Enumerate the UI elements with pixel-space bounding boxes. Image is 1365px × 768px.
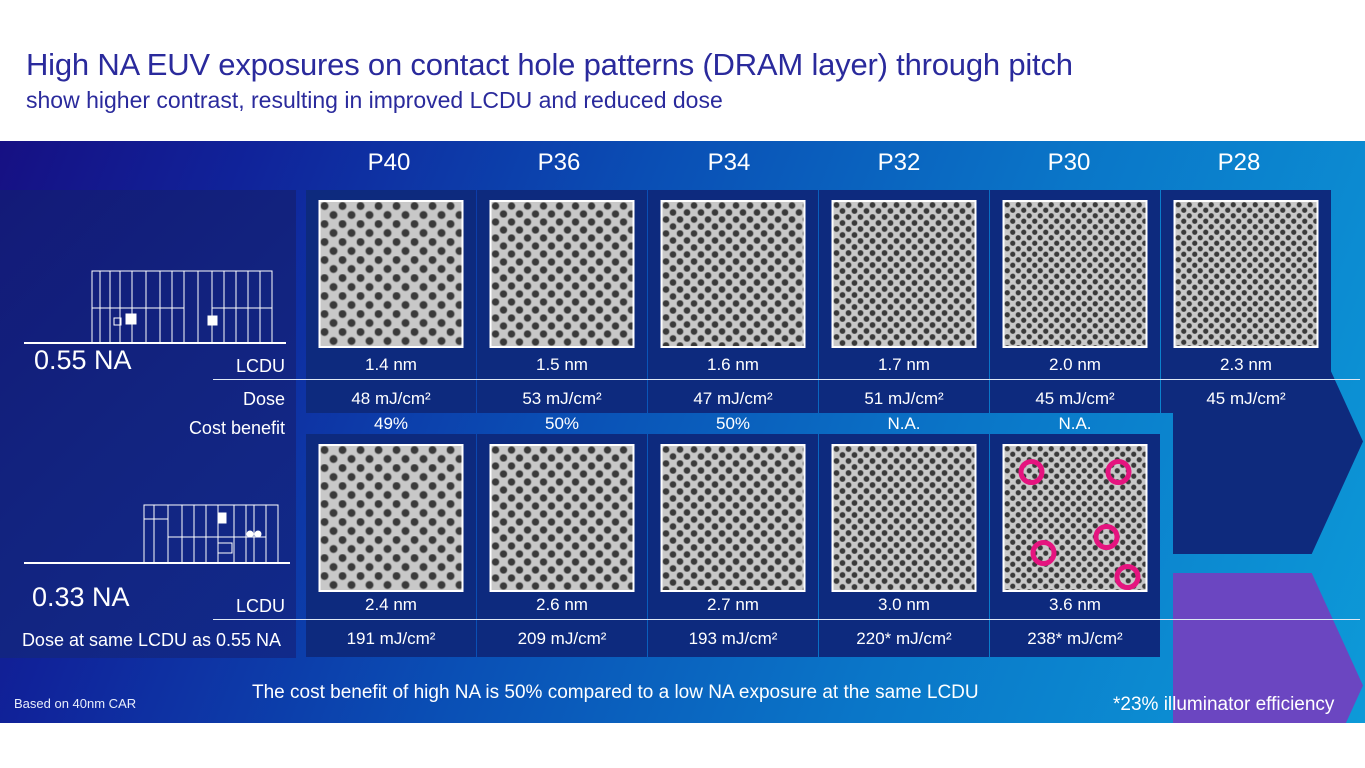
value-lcdu-high-na-p36: 1.5 nm (477, 355, 647, 375)
value-dose-low-na-p36: 209 mJ/cm² (477, 629, 647, 649)
value-dose-low-na-p40: 191 mJ/cm² (306, 629, 476, 649)
sem-image-top-p32 (832, 200, 977, 348)
value-lcdu-high-na-p30: 2.0 nm (990, 355, 1160, 375)
divider-low-na (213, 619, 1360, 620)
value-cost-benefit-p36: 50% (477, 414, 647, 434)
column-block-bottom-p30 (990, 434, 1160, 657)
value-cost-benefit-p32: N.A. (819, 414, 989, 434)
value-lcdu-low-na-p30: 3.6 nm (990, 595, 1160, 615)
value-lcdu-low-na-p36: 2.6 nm (477, 595, 647, 615)
defect-marker-icon (1106, 459, 1132, 485)
high-na-label: 0.55 NA (34, 345, 132, 376)
value-dose-low-na-p32: 220* mJ/cm² (819, 629, 989, 649)
value-cost-benefit-p40: 49% (306, 414, 476, 434)
based-on-note: Based on 40nm CAR (14, 696, 136, 711)
row-label-cost-benefit: Cost benefit (110, 418, 285, 439)
column-block-bottom-p34 (648, 434, 818, 657)
value-lcdu-low-na-p40: 2.4 nm (306, 595, 476, 615)
column-header-p30: P30 (984, 149, 1154, 177)
row-label-lcdu-low-na: LCDU (150, 596, 285, 617)
sem-image-top-p28 (1174, 200, 1319, 348)
sem-image-bottom-p32 (832, 444, 977, 592)
column-header-p34: P34 (644, 149, 814, 177)
defect-marker-icon (1115, 564, 1141, 590)
title-area: High NA EUV exposures on contact hole pa… (26, 48, 1326, 113)
value-dose-high-na-p34: 47 mJ/cm² (648, 389, 818, 409)
sem-image-bottom-p34 (661, 444, 806, 592)
column-block-bottom-p40 (306, 434, 476, 657)
value-dose-low-na-p34: 193 mJ/cm² (648, 629, 818, 649)
high-na-machine-illustration (22, 266, 288, 348)
defect-marker-icon (1094, 524, 1120, 550)
defect-marker-icon (1031, 540, 1057, 566)
value-lcdu-high-na-p34: 1.6 nm (648, 355, 818, 375)
column-header-p40: P40 (304, 149, 474, 177)
sem-image-top-p30 (1003, 200, 1148, 348)
value-dose-high-na-p36: 53 mJ/cm² (477, 389, 647, 409)
value-dose-high-na-p30: 45 mJ/cm² (990, 389, 1160, 409)
value-lcdu-low-na-p32: 3.0 nm (819, 595, 989, 615)
page-title: High NA EUV exposures on contact hole pa… (26, 48, 1326, 82)
illuminator-efficiency-footnote: *23% illuminator efficiency (1113, 694, 1334, 716)
divider-high-na (213, 379, 1360, 380)
low-na-label: 0.33 NA (32, 582, 130, 613)
column-block-bottom-p32 (819, 434, 989, 657)
sem-image-top-p34 (661, 200, 806, 348)
column-header-row: P40 P36 P34 P32 P30 P28 (304, 149, 1364, 189)
slide-root: High NA EUV exposures on contact hole pa… (0, 0, 1365, 768)
page-subtitle: show higher contrast, resulting in impro… (26, 88, 1326, 113)
sem-image-bottom-p40 (319, 444, 464, 592)
value-dose-high-na-p32: 51 mJ/cm² (819, 389, 989, 409)
low-na-machine-illustration (22, 501, 292, 569)
value-lcdu-low-na-p34: 2.7 nm (648, 595, 818, 615)
value-lcdu-high-na-p40: 1.4 nm (306, 355, 476, 375)
value-cost-benefit-p34: 50% (648, 414, 818, 434)
value-dose-high-na-p28: 45 mJ/cm² (1161, 389, 1331, 409)
sem-image-bottom-p36 (490, 444, 635, 592)
sem-image-bottom-p30 (1003, 444, 1148, 592)
value-lcdu-high-na-p32: 1.7 nm (819, 355, 989, 375)
slide-footer: ASML November 14, 2024 Page 22 Public (0, 723, 1365, 768)
column-block-bottom-p36 (477, 434, 647, 657)
defect-marker-icon (1019, 459, 1045, 485)
value-dose-high-na-p40: 48 mJ/cm² (306, 389, 476, 409)
row-label-lcdu-high-na: LCDU (150, 356, 285, 377)
content-panel: P40 P36 P34 P32 P30 P28 (0, 141, 1365, 723)
column-header-p28: P28 (1154, 149, 1324, 177)
conclusion-statement: The cost benefit of high NA is 50% compa… (252, 682, 979, 704)
sem-image-top-p36 (490, 200, 635, 348)
value-cost-benefit-p30: N.A. (990, 414, 1160, 434)
column-header-p32: P32 (814, 149, 984, 177)
value-dose-low-na-p30: 238* mJ/cm² (990, 629, 1160, 649)
sem-image-top-p40 (319, 200, 464, 348)
row-label-dose-high-na: Dose (150, 389, 285, 410)
column-header-p36: P36 (474, 149, 644, 177)
row-label-dose-low-na: Dose at same LCDU as 0.55 NA (18, 630, 285, 651)
value-lcdu-high-na-p28: 2.3 nm (1161, 355, 1331, 375)
